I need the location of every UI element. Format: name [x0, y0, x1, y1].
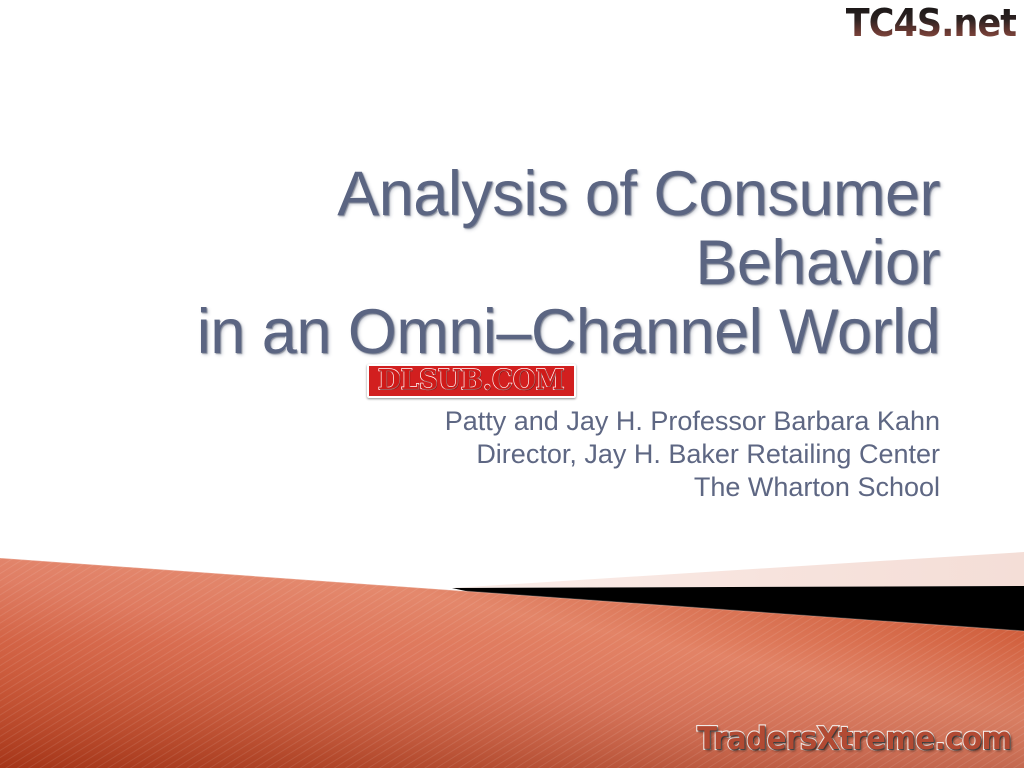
subtitle-line-1: Patty and Jay H. Professor Barbara Kahn	[60, 405, 940, 438]
title-line-1: Analysis of Consumer	[60, 160, 940, 229]
title-line-2: Behavior	[60, 229, 940, 298]
band-orange-edge-highlight	[0, 558, 1024, 631]
band-black-wedge	[452, 586, 1024, 637]
title-line-3: in an Omni–Channel World	[60, 298, 940, 367]
subtitle-line-2: Director, Jay H. Baker Retailing Center	[60, 438, 940, 471]
slide-title: Analysis of Consumer Behavior in an Omni…	[60, 160, 940, 367]
presentation-slide: Analysis of Consumer Behavior in an Omni…	[0, 0, 1024, 768]
watermark-dlsub: DLSUB.COM	[367, 364, 576, 398]
watermark-tradersxtreme: TradersXtreme.com	[698, 722, 1012, 756]
band-pink-wedge	[452, 552, 1024, 588]
watermark-dlsub-text: DLSUB.COM	[378, 367, 565, 394]
subtitle-line-3: The Wharton School	[60, 471, 940, 504]
slide-subtitle: Patty and Jay H. Professor Barbara Kahn …	[60, 405, 940, 504]
watermark-tc4s: TC4S.net	[846, 2, 1016, 44]
